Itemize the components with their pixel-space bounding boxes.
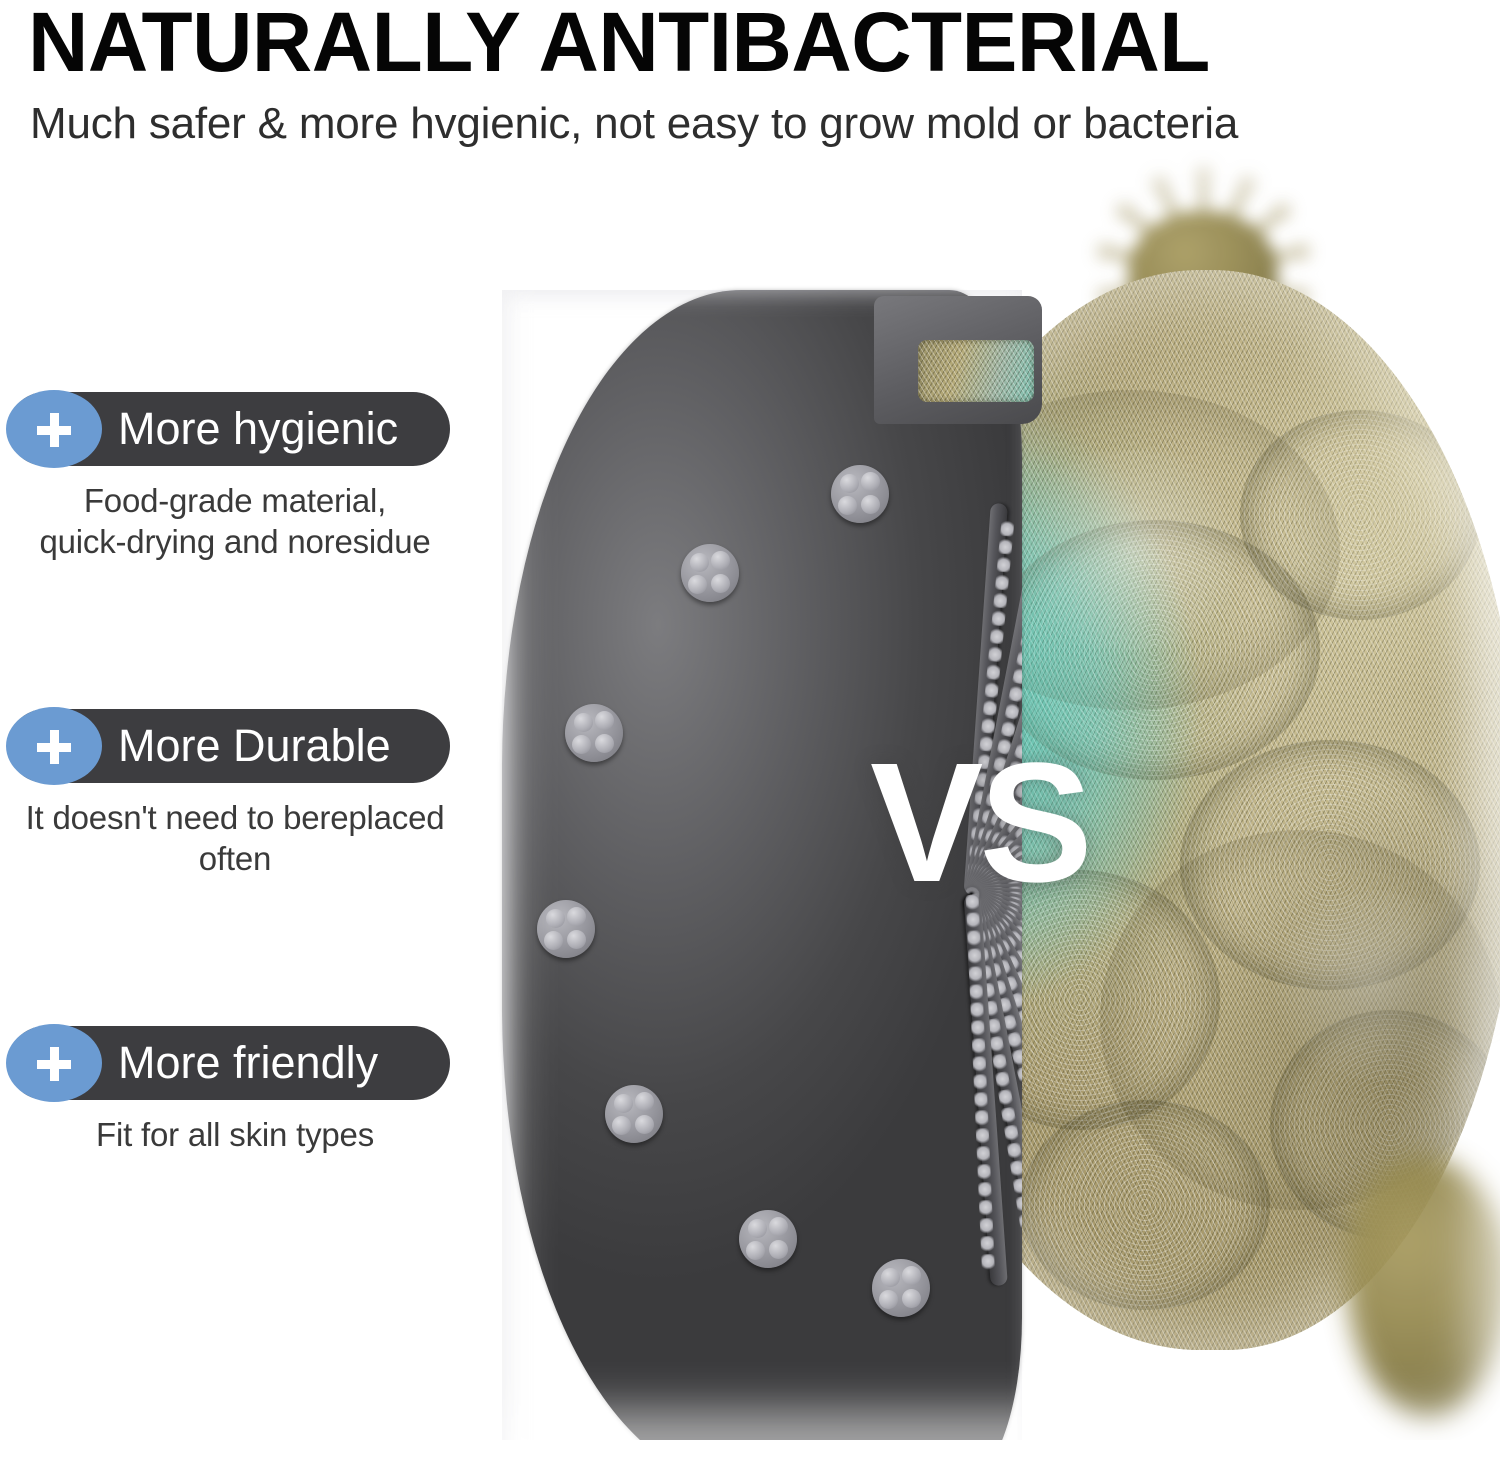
- feature-badge-label: More Durable: [118, 709, 391, 783]
- product-comparison-image: VS: [480, 150, 1500, 1440]
- plus-icon: [6, 1024, 102, 1102]
- plus-icon: [6, 390, 102, 468]
- feature-description: Food-grade material, quick-drying and no…: [0, 480, 470, 562]
- feature-description: Fit for all skin types: [0, 1114, 470, 1155]
- germ-spike: [1156, 182, 1179, 217]
- vs-label: VS: [870, 738, 1089, 908]
- germ-spike: [1228, 182, 1251, 217]
- feature-badge-label: More friendly: [118, 1026, 378, 1100]
- brush-nub-cluster: [605, 1085, 663, 1143]
- brush-nub-cluster: [681, 544, 739, 602]
- germ-spike: [1199, 174, 1208, 208]
- brush-nub-cluster: [872, 1259, 930, 1317]
- feature-badge-label: More hygienic: [118, 392, 398, 466]
- hanging-hole: [874, 296, 1042, 424]
- brush-nub-cluster: [565, 704, 623, 762]
- brush-nub-cluster: [537, 900, 595, 958]
- feature-description: It doesn't need to bereplaced often: [0, 797, 470, 879]
- plus-icon: [6, 707, 102, 785]
- feature-list: More hygienic Food-grade material, quick…: [0, 0, 500, 1459]
- brush-nub-cluster: [739, 1210, 797, 1268]
- brush-nub-cluster: [831, 465, 889, 523]
